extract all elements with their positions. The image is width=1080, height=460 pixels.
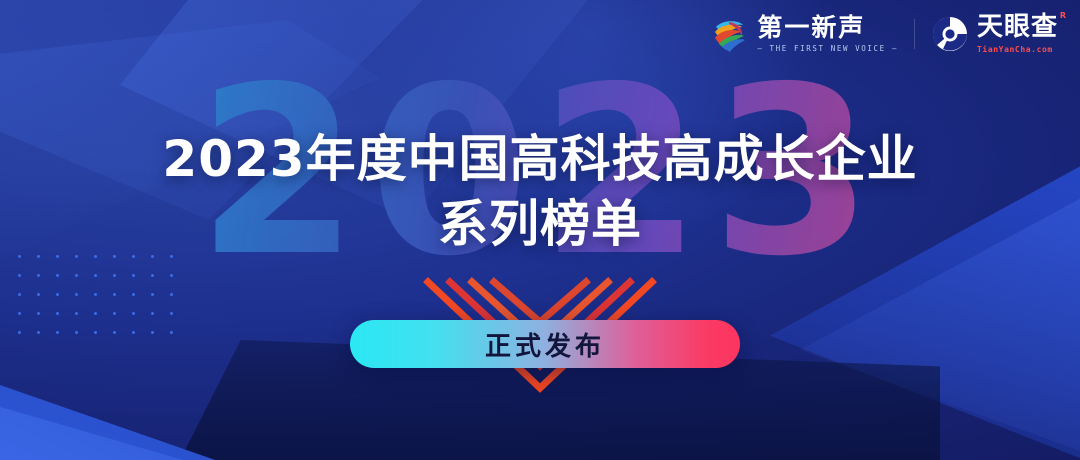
announcement-banner: 2023 第一新声 — THE FIRST NEW — [0, 0, 1080, 460]
page-title: 2023年度中国高科技高成长企业 系列榜单 — [0, 130, 1080, 254]
page-title-line-2: 系列榜单 — [0, 195, 1080, 254]
logo-tianyancha-tagline: TianYanCha.com — [977, 45, 1058, 54]
logo-tianyancha[interactable]: 天眼查 R TianYanCha.com — [931, 14, 1058, 53]
swirl-logo-icon — [709, 14, 749, 54]
logo-tianyancha-name-label: 天眼查 — [977, 12, 1058, 42]
logo-diyixinsheng-text: 第一新声 — THE FIRST NEW VOICE — — [757, 15, 898, 53]
logo-divider — [914, 19, 915, 49]
logo-diyixinsheng-tagline: — THE FIRST NEW VOICE — — [757, 44, 898, 53]
page-title-line-1: 2023年度中国高科技高成长企业 — [0, 130, 1080, 189]
logo-tianyancha-text: 天眼查 R TianYanCha.com — [977, 14, 1058, 53]
logo-diyixinsheng[interactable]: 第一新声 — THE FIRST NEW VOICE — — [709, 14, 898, 54]
eye-lens-logo-icon — [931, 15, 969, 53]
release-status-pill[interactable]: 正式发布 — [350, 320, 740, 368]
logo-tianyancha-name: 天眼查 R — [977, 14, 1058, 41]
release-status-label: 正式发布 — [485, 326, 605, 363]
logo-diyixinsheng-name: 第一新声 — [757, 15, 898, 41]
registered-trademark-icon: R — [1060, 12, 1067, 20]
logo-lockup: 第一新声 — THE FIRST NEW VOICE — 天眼查 R TianY… — [709, 14, 1058, 54]
